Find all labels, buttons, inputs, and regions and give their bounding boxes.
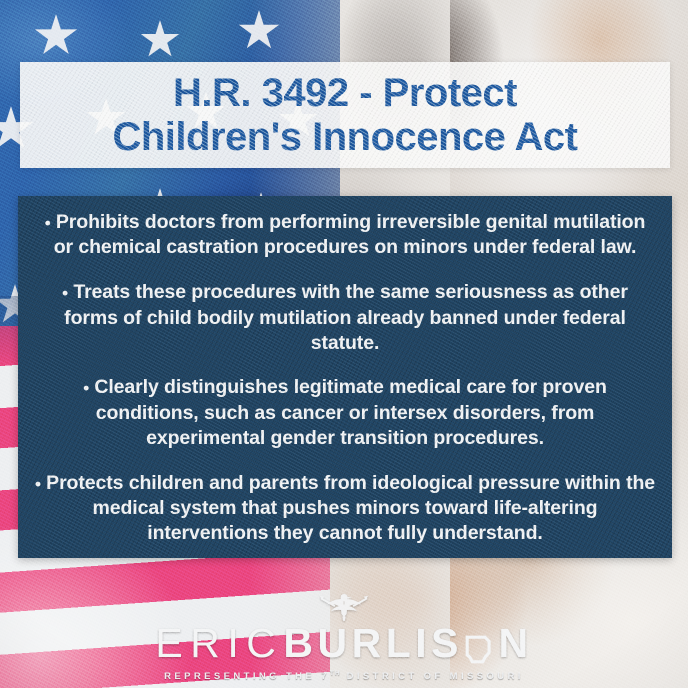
list-item-text: Protects children and parents from ideol…: [46, 472, 655, 544]
list-item-text: Clearly distinguishes legitimate medical…: [94, 376, 606, 448]
missouri-state-outline-icon: [464, 629, 495, 660]
list-item: • Protects children and parents from ide…: [34, 471, 656, 546]
wordmark-last-name-part-1: BURLIS: [283, 621, 463, 665]
list-item-text: Treats these procedures with the same se…: [64, 281, 628, 353]
eagle-seal-icon: [318, 592, 370, 622]
bullet-list-panel: • Prohibits doctors from performing irre…: [18, 196, 672, 558]
candidate-wordmark: ERIC BURLIS N: [155, 621, 532, 665]
page-title-line-1: H.R. 3492 - Protect: [173, 71, 517, 115]
bullet-dot-icon: •: [45, 213, 51, 232]
list-item-text: Prohibits doctors from performing irreve…: [54, 211, 646, 258]
footer-tagline-suffix: DISTRICT OF MISSOURI: [341, 671, 524, 682]
flag-star-icon: [140, 20, 180, 60]
title-banner: H.R. 3492 - Protect Children's Innocence…: [20, 62, 670, 168]
page-title-line-2: Children's Innocence Act: [112, 115, 577, 159]
wordmark-last-name: BURLIS N: [283, 621, 532, 665]
list-item: • Treats these procedures with the same …: [34, 280, 656, 355]
bullet-dot-icon: •: [83, 379, 89, 398]
social-media-graphic: H.R. 3492 - Protect Children's Innocence…: [0, 0, 688, 688]
footer-tagline: REPRESENTING THE 7TH DISTRICT OF MISSOUR…: [164, 667, 524, 684]
footer-tagline-prefix: REPRESENTING THE 7: [164, 671, 330, 682]
footer-tagline-ordinal: TH: [330, 670, 341, 677]
bullet-dot-icon: •: [62, 284, 68, 303]
list-item: • Prohibits doctors from performing irre…: [34, 210, 656, 260]
flag-star-icon: [34, 14, 78, 58]
wordmark-first-name: ERIC: [155, 621, 283, 665]
bullet-dot-icon: •: [35, 474, 41, 493]
wordmark-last-name-part-2: N: [498, 621, 532, 665]
footer-logo: ERIC BURLIS N REPRESENTING THE 7TH DISTR…: [0, 592, 688, 688]
list-item: • Clearly distinguishes legitimate medic…: [34, 375, 656, 450]
